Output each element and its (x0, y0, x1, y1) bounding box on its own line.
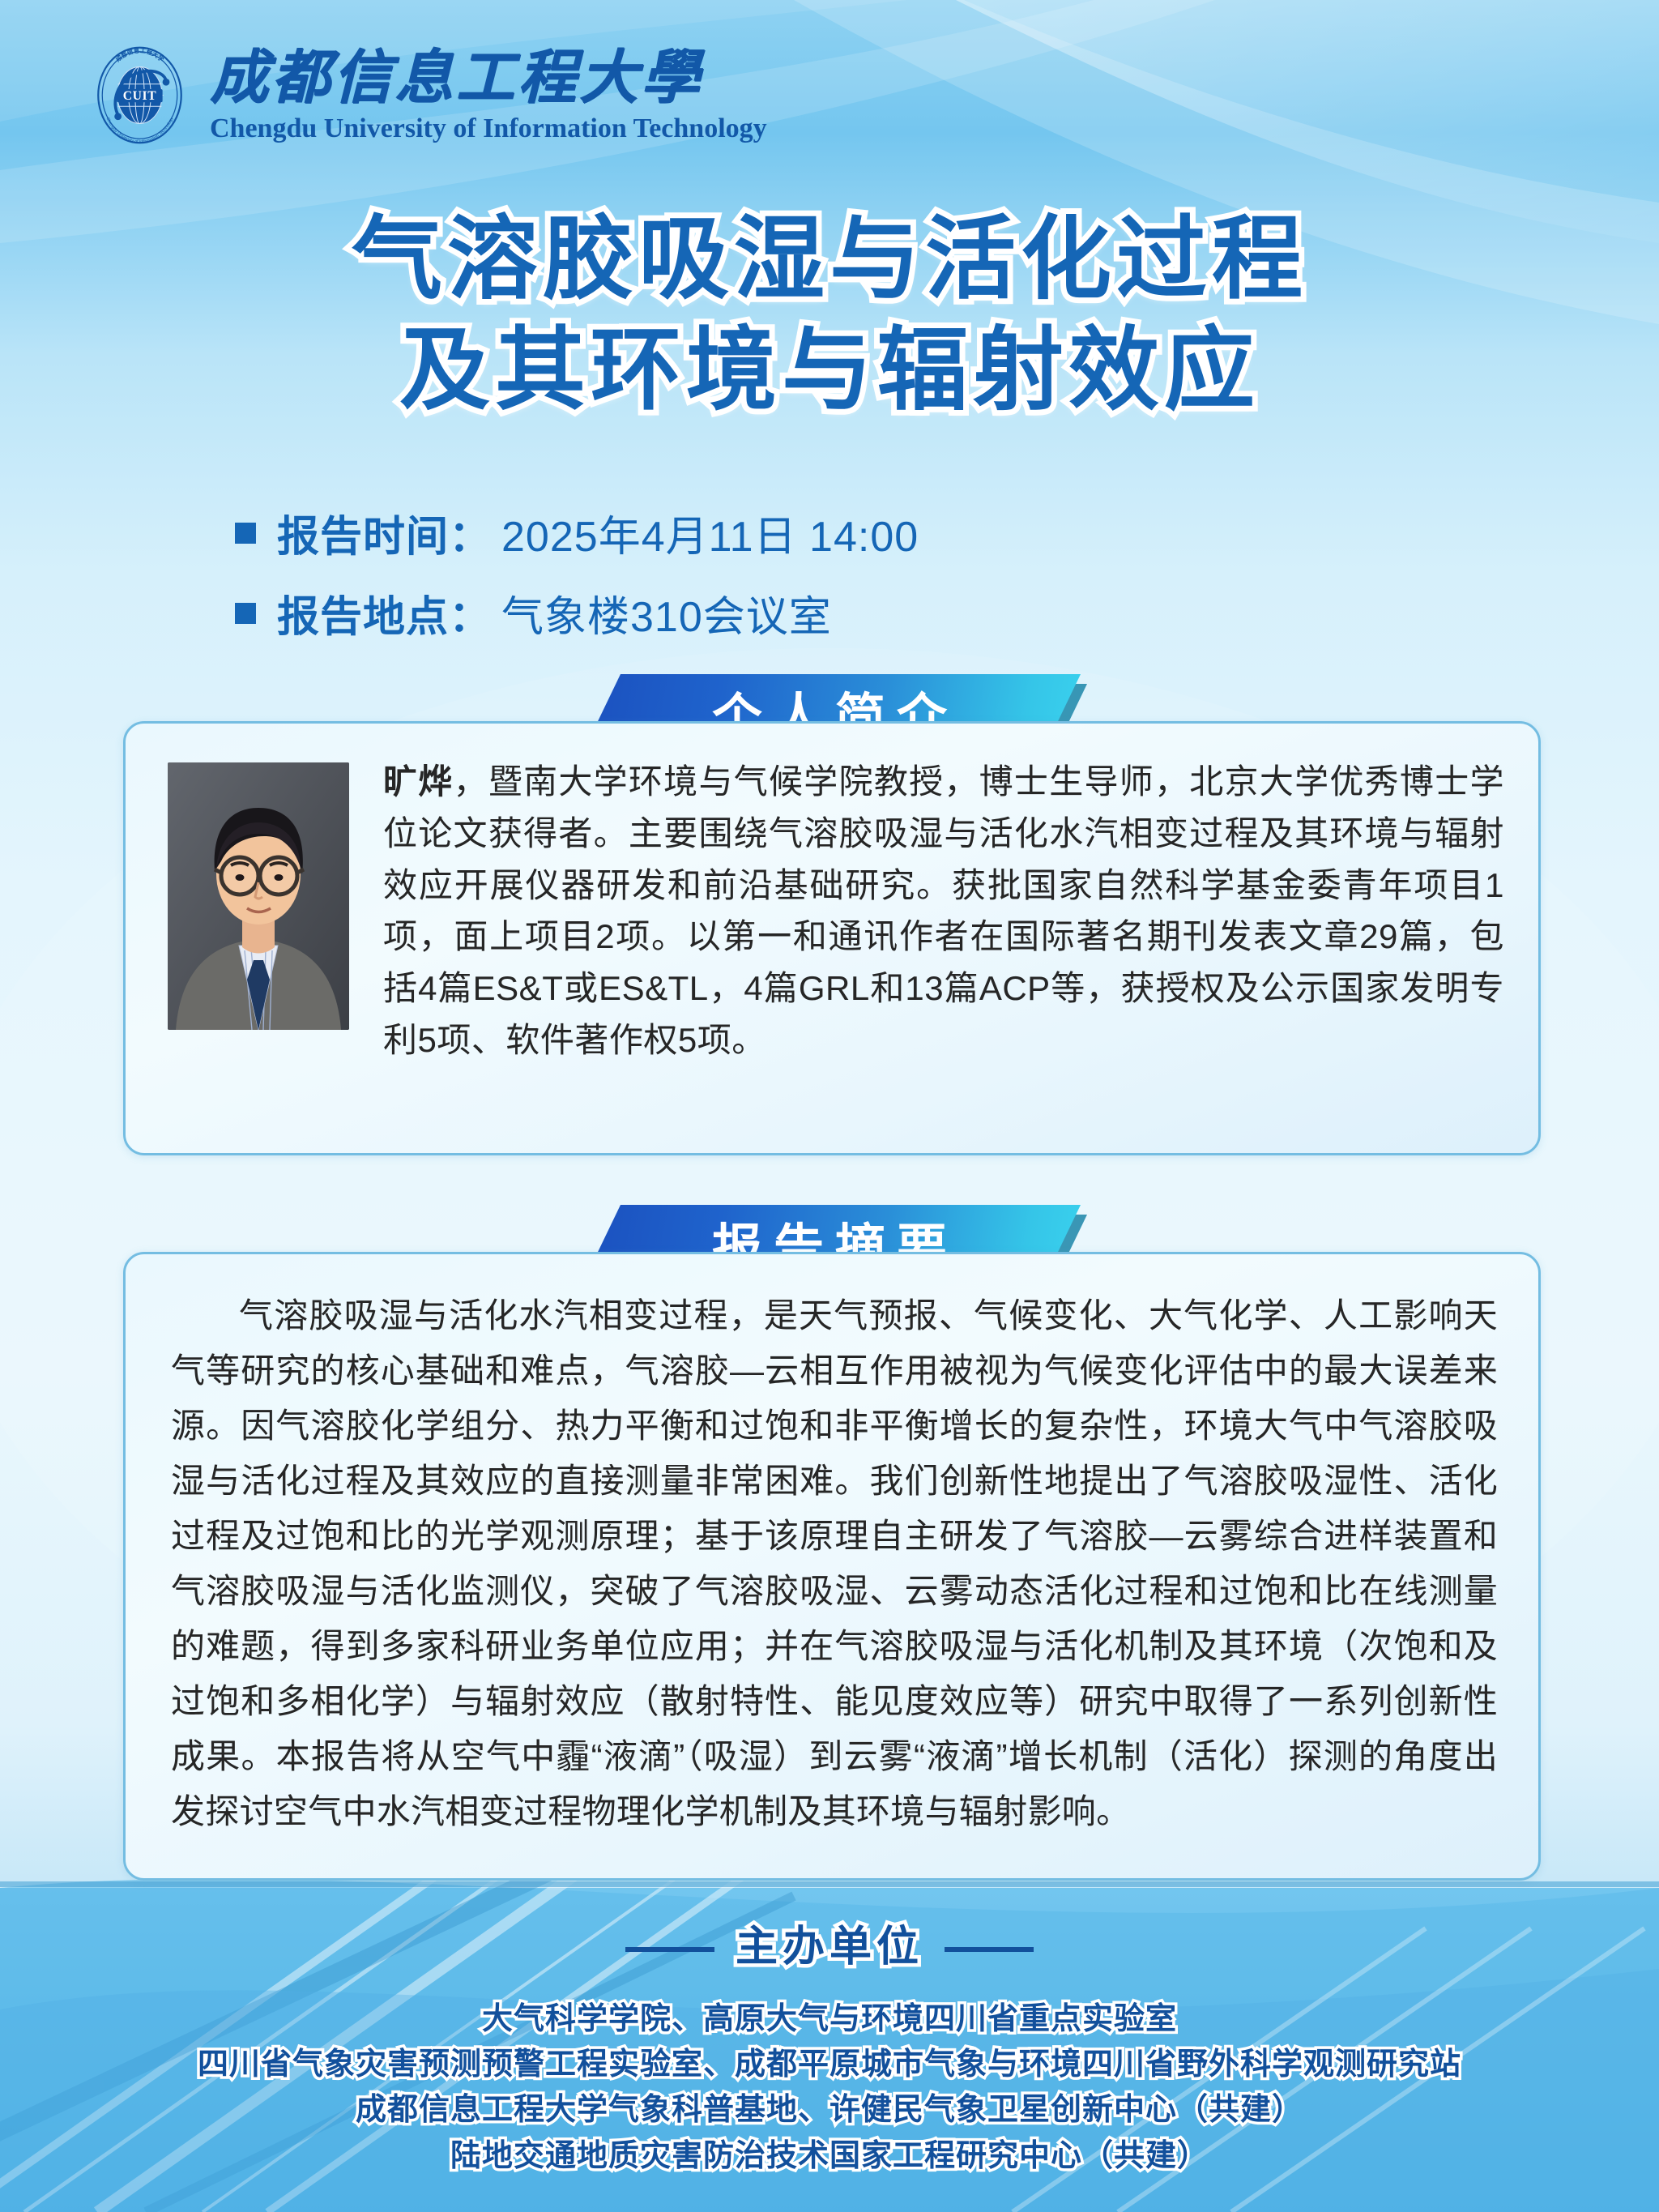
host-organization-list: 大气科学学院、高原大气与环境四川省重点实验室 四川省气象灾害预测预警工程实验室、… (0, 1996, 1659, 2179)
event-place-label: 报告地点： (277, 583, 492, 643)
speaker-name: 旷烨 (383, 762, 454, 801)
abstract-text: 气溶胶吸湿与活化水汽相变过程，是天气预报、气候变化、大气化学、人工影响天气等研究… (126, 1254, 1538, 1839)
event-time-label: 报告时间： (277, 502, 492, 563)
square-bullet-icon (235, 523, 256, 544)
host-line: 陆地交通地质灾害防治技术国家工程研究中心（共建） (0, 2133, 1659, 2179)
abstract-card: 气溶胶吸湿与活化水汽相变过程，是天气预报、气候变化、大气化学、人工影响天气等研究… (123, 1252, 1541, 1881)
svg-text:成都信息工程大学: 成都信息工程大学 (113, 46, 166, 64)
host-line: 成都信息工程大学气象科普基地、许健民气象卫星创新中心（共建） (0, 2087, 1659, 2133)
university-header: CUIT 成都信息工程大学 Chengdu University of Info… (89, 45, 767, 146)
event-place-value: 气象楼310会议室 (501, 583, 832, 643)
speaker-bio-text: ，暨南大学环境与气候学院教授，博士生导师，北京大学优秀博士学位论文获得者。主要围… (383, 762, 1504, 1059)
host-line: 大气科学学院、高原大气与环境四川省重点实验室 (0, 1996, 1659, 2042)
event-time-value: 2025年4月11日 14:00 (501, 502, 919, 563)
bio-card: 旷烨，暨南大学环境与气候学院教授，博士生导师，北京大学优秀博士学位论文获得者。主… (123, 721, 1541, 1155)
host-dash-right (945, 1947, 1034, 1952)
university-name-en: Chengdu University of Information Techno… (210, 115, 767, 143)
event-place-row: 报告地点： 气象楼310会议室 (235, 583, 919, 643)
logo-ring-cn-text: 成都信息工程大学 (113, 46, 166, 64)
svg-text:CUIT: CUIT (123, 89, 157, 103)
title-line-1: 气溶胶吸湿与活化过程 (0, 204, 1659, 315)
speaker-photo (168, 762, 349, 1030)
host-heading: 主办单位 (0, 1912, 1659, 1975)
cuit-logo-icon: CUIT 成都信息工程大学 Chengdu University of Info… (89, 45, 190, 146)
square-bullet-icon (235, 603, 256, 624)
host-dash-left (625, 1947, 714, 1952)
speaker-portrait-illustration (168, 762, 349, 1030)
host-line: 四川省气象灾害预测预警工程实验室、成都平原城市气象与环境四川省野外科学观测研究站 (0, 2042, 1659, 2087)
host-title-text: 主办单位 (736, 1912, 923, 1973)
university-wordmark: 成都信息工程大學 Chengdu University of Informati… (210, 49, 767, 143)
event-info: 报告时间： 2025年4月11日 14:00 报告地点： 气象楼310会议室 (235, 502, 919, 663)
footer: 主办单位 大气科学学院、高原大气与环境四川省重点实验室 四川省气象灾害预测预警工… (0, 1912, 1659, 2212)
university-name-cn: 成都信息工程大學 (210, 49, 767, 107)
event-time-row: 报告时间： 2025年4月11日 14:00 (235, 502, 919, 563)
poster-title: 气溶胶吸湿与活化过程 及其环境与辐射效应 (0, 204, 1659, 425)
speaker-bio: 旷烨，暨南大学环境与气候学院教授，博士生导师，北京大学优秀博士学位论文获得者。主… (383, 753, 1504, 1153)
title-line-2: 及其环境与辐射效应 (0, 315, 1659, 426)
poster-root: CUIT 成都信息工程大学 Chengdu University of Info… (0, 0, 1659, 2212)
